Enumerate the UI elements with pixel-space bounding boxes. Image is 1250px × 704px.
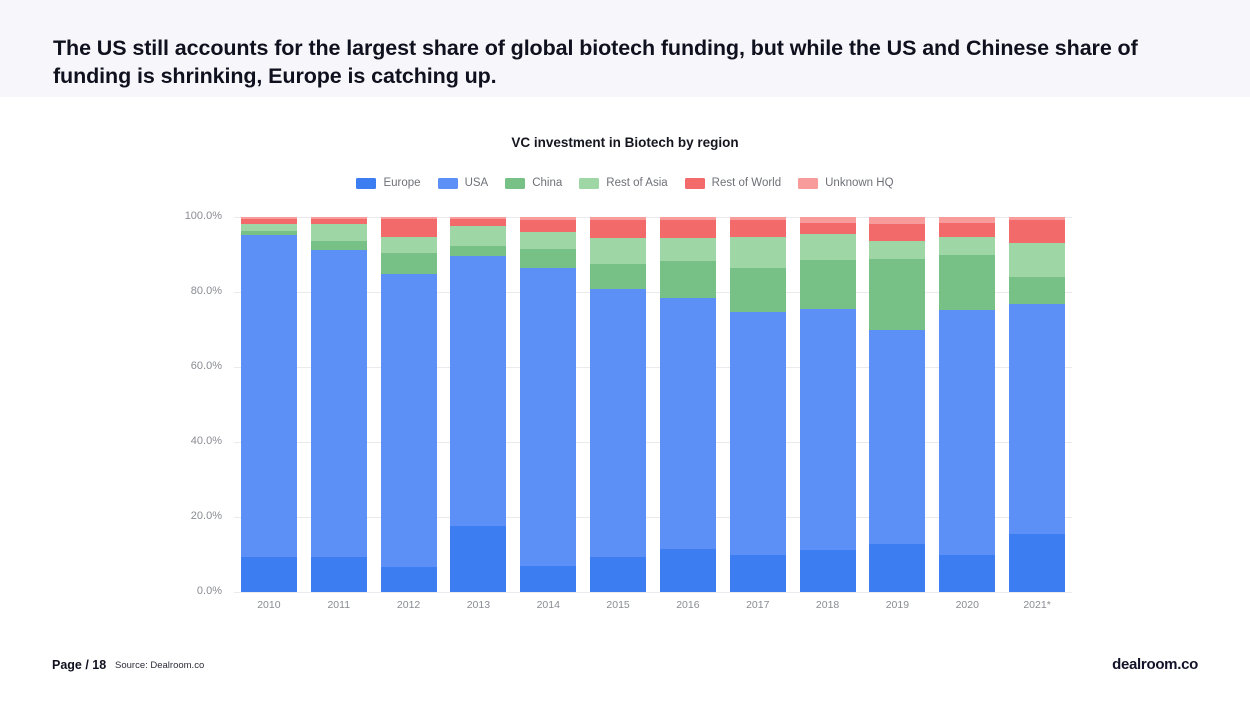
chart-bar[interactable] xyxy=(869,217,925,592)
bar-segment-europe[interactable] xyxy=(1009,534,1065,593)
bar-segment-usa[interactable] xyxy=(939,310,995,554)
y-axis-tick-label: 60.0% xyxy=(170,360,222,372)
bar-segment-china[interactable] xyxy=(800,260,856,310)
bar-segment-rest-of-world[interactable] xyxy=(1009,220,1065,242)
bar-segment-china[interactable] xyxy=(730,268,786,312)
x-axis-tick-label: 2015 xyxy=(590,599,646,611)
bar-segment-rest-of-asia[interactable] xyxy=(590,238,646,264)
bar-segment-europe[interactable] xyxy=(869,544,925,592)
bar-segment-china[interactable] xyxy=(869,259,925,329)
chart-bar[interactable] xyxy=(590,217,646,592)
chart-bar[interactable] xyxy=(800,217,856,592)
bar-segment-usa[interactable] xyxy=(869,330,925,545)
page-number: Page / 18 xyxy=(52,658,106,672)
gridline xyxy=(234,592,1072,593)
bar-segment-usa[interactable] xyxy=(381,274,437,568)
chart-plot-wrapper: 0.0%20.0%40.0%60.0%80.0%100.0% 201020112… xyxy=(0,97,1250,649)
chart-plot-area: 2010201120122013201420152016201720182019… xyxy=(234,217,1072,592)
bar-segment-china[interactable] xyxy=(450,246,506,256)
bar-segment-rest-of-asia[interactable] xyxy=(869,241,925,260)
bar-segment-rest-of-asia[interactable] xyxy=(660,238,716,260)
bar-segment-usa[interactable] xyxy=(800,309,856,549)
bar-segment-europe[interactable] xyxy=(381,567,437,592)
bar-segment-europe[interactable] xyxy=(241,557,297,592)
x-axis-tick-label: 2021* xyxy=(1009,599,1065,611)
bar-segment-rest-of-world[interactable] xyxy=(939,223,995,237)
bar-segment-usa[interactable] xyxy=(520,268,576,566)
bar-segment-europe[interactable] xyxy=(939,555,995,593)
chart-bar[interactable] xyxy=(241,217,297,592)
bar-segment-rest-of-world[interactable] xyxy=(800,223,856,234)
bar-segment-usa[interactable] xyxy=(590,289,646,557)
bar-segment-china[interactable] xyxy=(660,261,716,299)
y-axis-tick-label: 100.0% xyxy=(170,210,222,222)
bar-segment-usa[interactable] xyxy=(450,256,506,526)
bar-segment-usa[interactable] xyxy=(311,250,367,557)
bar-segment-usa[interactable] xyxy=(241,235,297,557)
bar-segment-china[interactable] xyxy=(311,241,367,250)
slide-body: VC investment in Biotech by region Europ… xyxy=(0,97,1250,649)
bar-segment-rest-of-world[interactable] xyxy=(450,219,506,227)
footer-bar: Page / 18 Source: Dealroom.co dealroom.c… xyxy=(0,649,1250,704)
y-axis-tick-label: 0.0% xyxy=(170,585,222,597)
bar-segment-europe[interactable] xyxy=(311,557,367,592)
bar-segment-rest-of-asia[interactable] xyxy=(311,224,367,241)
bar-segment-china[interactable] xyxy=(520,249,576,268)
chart-bar[interactable] xyxy=(381,217,437,592)
bar-segment-usa[interactable] xyxy=(660,298,716,549)
source-note: Source: Dealroom.co xyxy=(115,660,204,671)
bar-segment-rest-of-world[interactable] xyxy=(590,220,646,237)
chart-bar[interactable] xyxy=(1009,217,1065,592)
x-axis-tick-label: 2018 xyxy=(800,599,856,611)
y-axis-tick-label: 80.0% xyxy=(170,285,222,297)
bar-segment-rest-of-asia[interactable] xyxy=(381,237,437,253)
bar-segment-europe[interactable] xyxy=(590,557,646,592)
bar-segment-rest-of-asia[interactable] xyxy=(450,226,506,246)
bar-segment-rest-of-asia[interactable] xyxy=(520,232,576,249)
chart-bar[interactable] xyxy=(520,217,576,592)
bar-segment-rest-of-asia[interactable] xyxy=(800,234,856,260)
bar-segment-europe[interactable] xyxy=(450,526,506,592)
bar-segment-usa[interactable] xyxy=(730,312,786,555)
x-axis-tick-label: 2012 xyxy=(381,599,437,611)
chart-bar[interactable] xyxy=(660,217,716,592)
chart-bar[interactable] xyxy=(939,217,995,592)
bar-segment-rest-of-world[interactable] xyxy=(869,224,925,241)
bar-segment-china[interactable] xyxy=(590,264,646,290)
bar-segment-rest-of-world[interactable] xyxy=(660,220,716,238)
brand-logo: dealroom.co xyxy=(1112,656,1198,673)
chart-bar[interactable] xyxy=(450,217,506,592)
bar-segment-rest-of-asia[interactable] xyxy=(939,237,995,256)
header-band: The US still accounts for the largest sh… xyxy=(0,0,1250,97)
bar-segment-rest-of-asia[interactable] xyxy=(730,237,786,268)
bar-segment-europe[interactable] xyxy=(800,550,856,592)
bar-segment-europe[interactable] xyxy=(520,566,576,592)
x-axis-tick-label: 2017 xyxy=(730,599,786,611)
x-axis-tick-label: 2011 xyxy=(311,599,367,611)
bar-segment-europe[interactable] xyxy=(660,549,716,592)
bar-segment-unknown-hq[interactable] xyxy=(869,217,925,224)
bar-segment-rest-of-world[interactable] xyxy=(730,220,786,238)
x-axis-tick-label: 2020 xyxy=(939,599,995,611)
x-axis-tick-label: 2010 xyxy=(241,599,297,611)
bar-segment-rest-of-world[interactable] xyxy=(381,219,437,237)
bar-segment-rest-of-asia[interactable] xyxy=(1009,243,1065,277)
chart-bar[interactable] xyxy=(730,217,786,592)
chart-bar[interactable] xyxy=(311,217,367,592)
bar-segment-china[interactable] xyxy=(1009,277,1065,305)
y-axis-tick-label: 40.0% xyxy=(170,435,222,447)
bar-segment-china[interactable] xyxy=(939,255,995,310)
bar-segment-usa[interactable] xyxy=(1009,304,1065,533)
bar-segment-europe[interactable] xyxy=(730,555,786,592)
bar-segment-rest-of-world[interactable] xyxy=(520,220,576,232)
bar-segment-rest-of-asia[interactable] xyxy=(241,224,297,231)
x-axis-tick-label: 2013 xyxy=(450,599,506,611)
x-axis-tick-label: 2016 xyxy=(660,599,716,611)
x-axis-tick-label: 2014 xyxy=(520,599,576,611)
x-axis-tick-label: 2019 xyxy=(869,599,925,611)
bar-segment-china[interactable] xyxy=(381,253,437,274)
y-axis-tick-label: 20.0% xyxy=(170,510,222,522)
page-title: The US still accounts for the largest sh… xyxy=(53,34,1183,91)
